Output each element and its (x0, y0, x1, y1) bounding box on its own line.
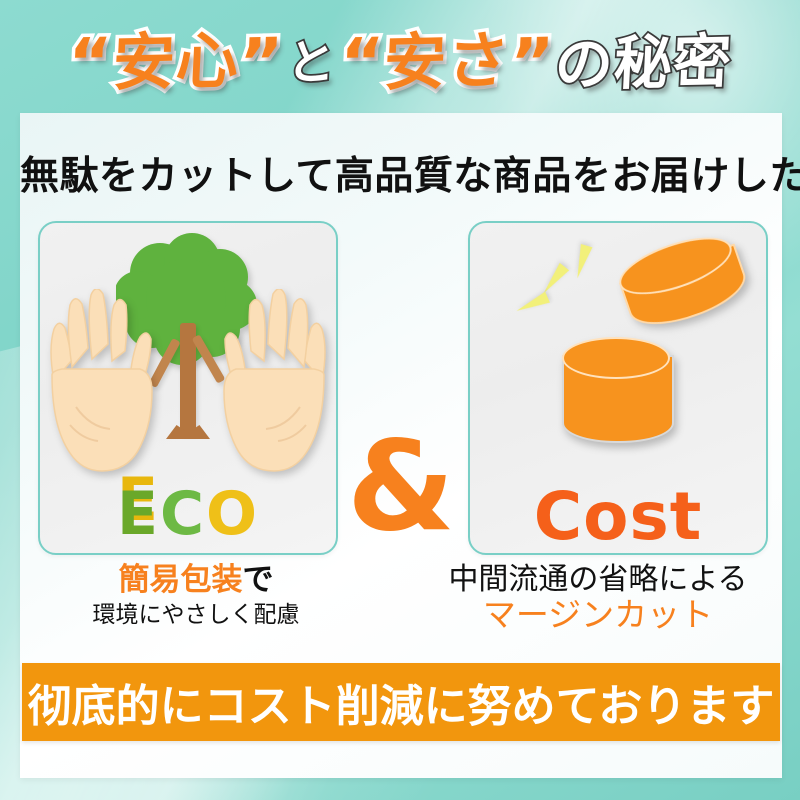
can-top (562, 337, 670, 379)
sparkle-icon-1 (572, 244, 593, 280)
caption-cost-line2: マージンカット (428, 599, 768, 631)
sparkle-icon-3 (514, 292, 550, 317)
title-open-quote-2: “ (338, 15, 387, 112)
ampersand-connector: & (339, 417, 463, 557)
eco-letter-o: O (206, 479, 259, 549)
title-close-quote-1: ” (236, 15, 285, 112)
hands-holding-tree-icon (40, 227, 336, 477)
feature-card-eco[interactable]: ECO (38, 221, 338, 555)
content-panel: 無駄をカットして高品質な商品をお届けしたい！ (20, 113, 782, 778)
title-tail-himitsu: の秘密 (552, 13, 734, 113)
eco-letter-c: C (160, 479, 206, 549)
page-title: “安心”と“安さ”の秘密 (0, 14, 800, 110)
caption-eco-line1: 簡易包装で (26, 561, 366, 599)
coin-can-with-flying-lid-icon (470, 229, 766, 479)
title-open-quote-1: “ (66, 15, 115, 112)
caption-cost-line1: 中間流通の省略による (428, 561, 768, 599)
title-word-yasusa: 安さ (382, 13, 513, 112)
feature-card-cost[interactable]: Cost (468, 221, 768, 555)
hand-left-icon (42, 289, 158, 473)
poster-root: “安心”と“安さ”の秘密 無駄をカットして高品質な商品をお届けしたい！ (0, 0, 800, 800)
can-icon (562, 337, 670, 445)
caption-eco-line2: 環境にやさしく配慮 (26, 599, 366, 631)
title-conjunction: と (285, 14, 339, 111)
eco-wordmark: ECO (40, 479, 336, 549)
tree-trunk-icon (180, 323, 196, 433)
eco-letter-e: E (117, 479, 160, 549)
cost-wordmark: Cost (470, 478, 766, 555)
hand-right-icon (218, 289, 334, 473)
subheadline: 無駄をカットして高品質な商品をお届けしたい！ (20, 145, 782, 201)
caption-eco: 簡易包装で 環境にやさしく配慮 (26, 561, 366, 631)
title-close-quote-2: ” (508, 15, 557, 112)
title-word-anshin: 安心 (110, 13, 241, 112)
caption-cost: 中間流通の省略による マージンカット (428, 561, 768, 631)
footer-banner: 彻底的にコスト削減に努めております (22, 663, 780, 741)
footer-banner-text: 彻底的にコスト削減に努めております (28, 670, 775, 734)
caption-eco-line1-highlight: 簡易包装 (119, 562, 243, 598)
caption-eco-line1-suffix: で (243, 562, 274, 598)
can-lid-icon (613, 226, 750, 338)
feature-cards-row: ECO Cost (20, 221, 782, 561)
